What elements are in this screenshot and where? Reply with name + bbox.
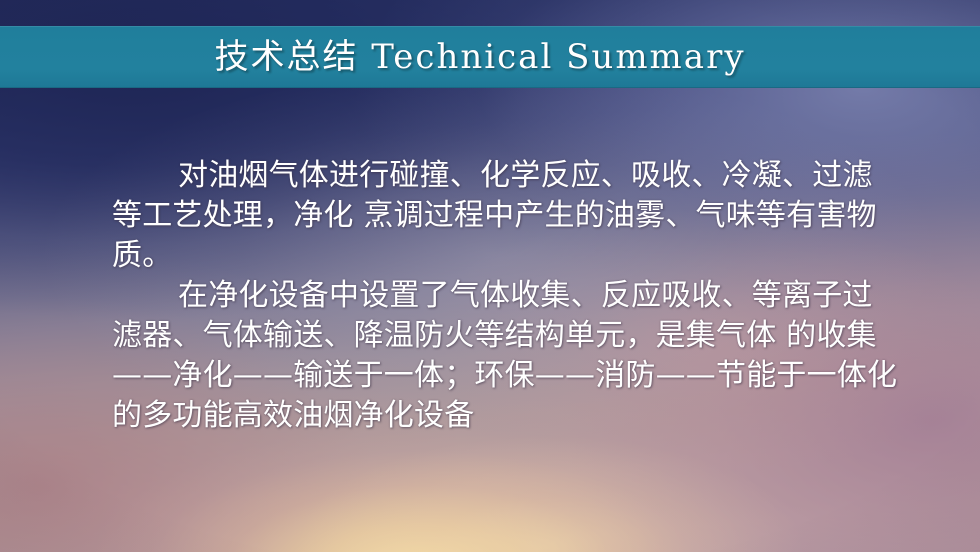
body-paragraph-1: 对油烟气体进行碰撞、化学反应、吸收、冷凝、过滤等工艺处理，净化 烹调过程中产生的… (112, 156, 902, 276)
slide-title: 技术总结 Technical Summary (214, 40, 745, 74)
slide-body: 对油烟气体进行碰撞、化学反应、吸收、冷凝、过滤等工艺处理，净化 烹调过程中产生的… (112, 156, 902, 436)
body-paragraph-2: 在净化设备中设置了气体收集、反应吸收、等离子过滤器、气体输送、降温防火等结构单元… (112, 276, 902, 436)
slide-title-band: 技术总结 Technical Summary (0, 26, 980, 88)
presentation-slide: 技术总结 Technical Summary 对油烟气体进行碰撞、化学反应、吸收… (0, 0, 980, 552)
